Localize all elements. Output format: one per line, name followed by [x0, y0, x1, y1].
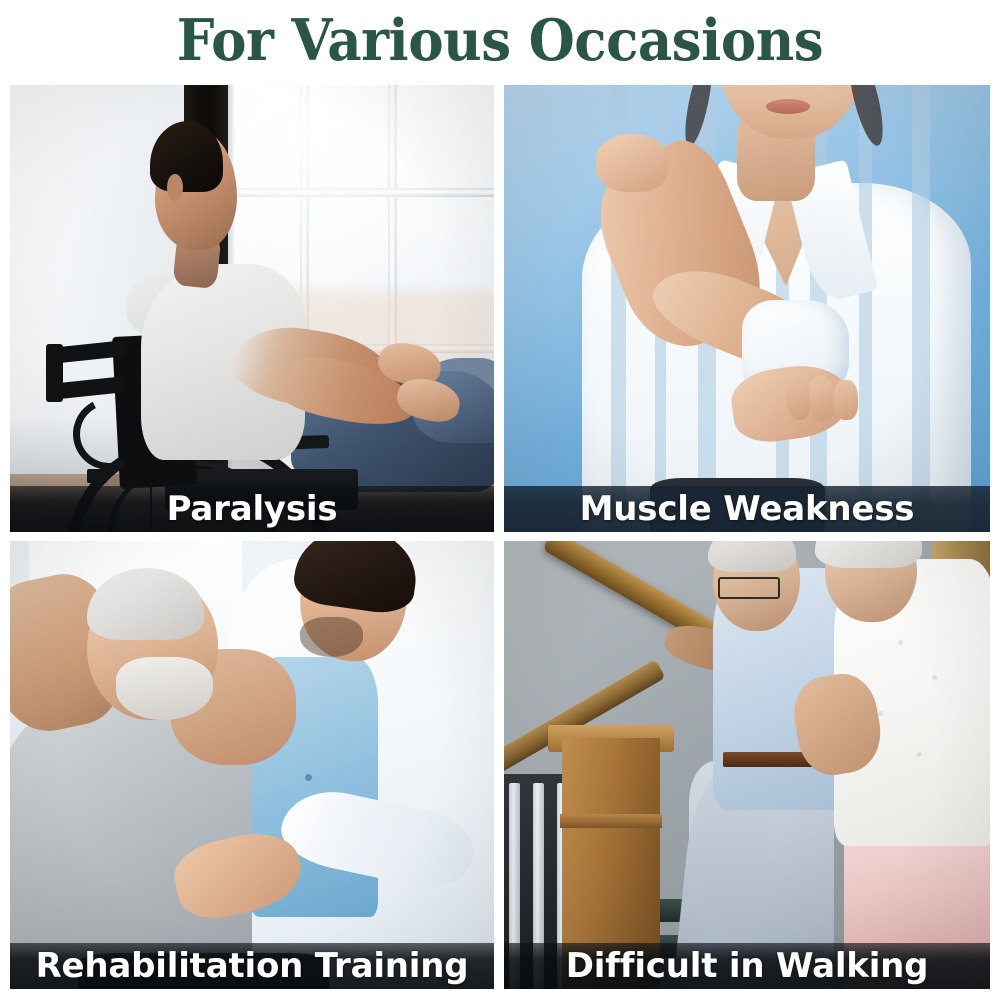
blouse-stripe-7 — [912, 85, 929, 532]
photo-man-in-wheelchair — [10, 85, 494, 532]
caption-bar-difficult-in-walking: Difficult in Walking — [504, 943, 990, 989]
caption-bar-paralysis: Paralysis — [10, 486, 494, 532]
woman-fist — [596, 134, 669, 192]
page-title: For Various Occasions — [35, 8, 965, 74]
lace-texture-dot — [917, 752, 922, 757]
promo-graphic: For Various Occasions — [0, 0, 1000, 1000]
newel-post-band — [560, 814, 662, 827]
wheelchair-bracket — [87, 469, 106, 482]
caption-label: Difficult in Walking — [566, 947, 929, 985]
caption-label: Paralysis — [167, 490, 338, 528]
lace-texture-dot — [898, 640, 903, 645]
photo-elderly-couple-on-stairs — [504, 541, 990, 989]
occasion-tile-difficult-in-walking[interactable]: Difficult in Walking — [504, 541, 990, 989]
caption-bar-muscle-weakness: Muscle Weakness — [504, 486, 990, 532]
blouse-stripe-6 — [859, 85, 873, 532]
occasion-tile-paralysis[interactable]: Paralysis — [10, 85, 494, 532]
photo-therapist-and-patient — [10, 541, 494, 989]
caption-bar-rehabilitation-training: Rehabilitation Training — [10, 943, 494, 989]
person-ear — [167, 174, 182, 201]
man-hair — [708, 541, 795, 572]
occasion-tile-muscle-weakness[interactable]: Muscle Weakness — [504, 85, 990, 532]
glasses-icon — [718, 577, 780, 599]
photo-woman-holding-elbow — [504, 85, 990, 532]
caption-label: Rehabilitation Training — [36, 947, 469, 985]
occasion-tile-rehabilitation-training[interactable]: Rehabilitation Training — [10, 541, 494, 989]
caption-label: Muscle Weakness — [580, 490, 915, 528]
woman-hair — [815, 541, 922, 568]
finger-3 — [834, 380, 860, 421]
occasion-tile-grid: Paralysis — [10, 85, 990, 989]
